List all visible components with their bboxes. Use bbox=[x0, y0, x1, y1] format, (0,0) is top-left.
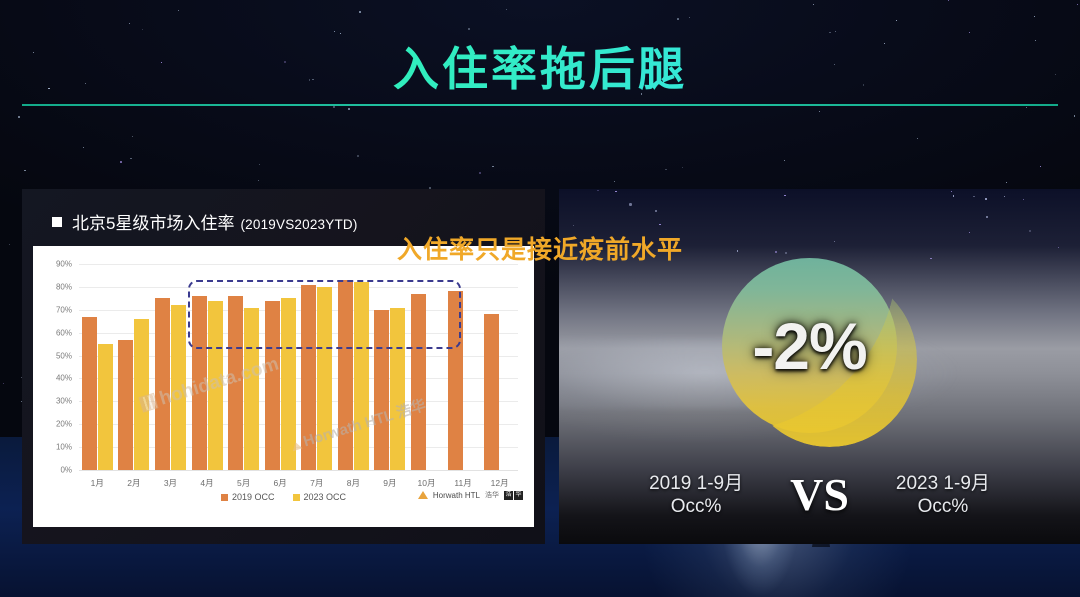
star bbox=[1004, 196, 1005, 197]
vs-mark: VS bbox=[790, 472, 849, 518]
partner-logo-char-1: 浩 bbox=[504, 491, 513, 500]
comparison-left-period: 2019 1-9月 bbox=[616, 472, 776, 495]
chart-y-tick-label: 0% bbox=[60, 466, 72, 475]
star bbox=[835, 31, 836, 32]
chart-y-tick-label: 70% bbox=[56, 305, 72, 314]
star bbox=[357, 155, 359, 157]
chart-legend-swatch bbox=[221, 494, 228, 501]
chart-x-tick-label: 11月 bbox=[454, 477, 471, 489]
star bbox=[784, 195, 786, 197]
chart-bar bbox=[82, 317, 97, 470]
title-divider bbox=[22, 104, 1058, 106]
page-title: 入住率拖后腿 bbox=[0, 33, 1080, 99]
chart-x-tick-label: 12月 bbox=[491, 477, 509, 489]
chart-x-axis-line bbox=[79, 470, 518, 471]
comparison-left-metric: Occ% bbox=[616, 495, 776, 518]
comparison-right: 2023 1-9月 Occ% bbox=[863, 472, 1023, 518]
summary-heading: 入住率只是接近疫前水平 bbox=[0, 230, 1080, 266]
chart-x-tick-label: 8月 bbox=[347, 477, 360, 489]
chart-y-tick-label: 60% bbox=[56, 328, 72, 337]
star bbox=[985, 198, 987, 200]
chart-y-tick-label: 30% bbox=[56, 397, 72, 406]
star bbox=[24, 170, 26, 172]
star bbox=[615, 191, 617, 193]
star bbox=[1026, 107, 1027, 108]
chart-y-tick-label: 50% bbox=[56, 351, 72, 360]
horwath-triangle-icon bbox=[418, 491, 428, 499]
star bbox=[951, 191, 952, 192]
chart-bar bbox=[171, 305, 186, 470]
star bbox=[506, 9, 507, 10]
chart-brand: Horwath HTL 浩华 浩 华 bbox=[418, 490, 523, 500]
star bbox=[468, 28, 470, 30]
chart-bar-group: 3月 bbox=[152, 264, 189, 470]
star bbox=[3, 383, 4, 384]
star bbox=[665, 169, 667, 171]
chart-legend-swatch bbox=[293, 494, 300, 501]
star bbox=[573, 225, 574, 226]
star bbox=[597, 190, 599, 192]
comparison-right-metric: Occ% bbox=[863, 495, 1023, 518]
chart-x-tick-label: 3月 bbox=[164, 477, 177, 489]
metric-value: -2% bbox=[722, 258, 897, 433]
star bbox=[130, 158, 132, 160]
comparison-left: 2019 1-9月 Occ% bbox=[616, 472, 776, 518]
chart-y-tick-label: 80% bbox=[56, 282, 72, 291]
star bbox=[132, 136, 133, 137]
chart-bar-group: 2月 bbox=[116, 264, 153, 470]
star bbox=[629, 203, 631, 205]
chart-bar-group: 1月 bbox=[79, 264, 116, 470]
star bbox=[986, 216, 988, 218]
chart-bar bbox=[155, 298, 170, 470]
partner-logo-char-2: 华 bbox=[514, 491, 523, 500]
star bbox=[83, 147, 84, 148]
brand-name: Horwath HTL bbox=[433, 491, 480, 500]
star bbox=[1023, 199, 1024, 200]
star bbox=[948, 0, 949, 1]
star bbox=[359, 11, 361, 13]
chart-y-tick-label: 10% bbox=[56, 443, 72, 452]
star bbox=[917, 138, 918, 139]
chart-y-tick-label: 40% bbox=[56, 374, 72, 383]
chart-x-tick-label: 1月 bbox=[91, 477, 104, 489]
comparison-row: 2019 1-9月 Occ% VS 2023 1-9月 Occ% bbox=[559, 466, 1080, 524]
star bbox=[334, 31, 335, 32]
star bbox=[348, 108, 350, 110]
slide-root: 入住率拖后腿 北京5星级市场入住率(2019VS2023YTD) 90%80%7… bbox=[0, 0, 1080, 597]
chart-bar bbox=[484, 314, 499, 470]
star bbox=[819, 111, 820, 112]
star bbox=[614, 181, 615, 182]
chart-legend-label: 2023 OCC bbox=[304, 492, 347, 502]
chart-plot-area: 90%80%70%60%50%40%30%20%10%0% 1月2月3月4月5月… bbox=[79, 264, 518, 470]
chart-legend-item: 2019 OCC bbox=[221, 492, 275, 502]
brand-name-cn: 浩华 bbox=[485, 490, 499, 500]
chart-card: 90%80%70%60%50%40%30%20%10%0% 1月2月3月4月5月… bbox=[33, 246, 534, 527]
chart-x-tick-label: 2月 bbox=[127, 477, 140, 489]
chart-y-tick-label: 20% bbox=[56, 420, 72, 429]
chart-legend-item: 2023 OCC bbox=[293, 492, 347, 502]
star bbox=[973, 196, 974, 197]
star bbox=[1040, 166, 1041, 167]
chart-x-tick-label: 5月 bbox=[237, 477, 250, 489]
chart-x-tick-label: 9月 bbox=[383, 477, 396, 489]
star bbox=[333, 106, 334, 107]
star bbox=[479, 172, 481, 174]
chart-bar-group: 12月 bbox=[481, 264, 518, 470]
star bbox=[178, 10, 179, 11]
chart-x-tick-label: 10月 bbox=[418, 477, 436, 489]
star bbox=[120, 161, 122, 163]
comparison-right-period: 2023 1-9月 bbox=[863, 472, 1023, 495]
star bbox=[677, 18, 679, 20]
chart-x-tick-label: 7月 bbox=[310, 477, 323, 489]
star bbox=[655, 210, 657, 212]
star bbox=[896, 20, 897, 21]
partner-logo-icon: 浩 华 bbox=[504, 491, 523, 500]
bullet-square-icon bbox=[52, 217, 62, 227]
chart-bar bbox=[118, 340, 133, 470]
chart-highlight-box bbox=[188, 280, 461, 349]
star bbox=[129, 23, 130, 24]
chart-bar bbox=[98, 344, 113, 470]
star bbox=[659, 224, 661, 226]
chart-legend-label: 2019 OCC bbox=[232, 492, 275, 502]
chart-bar bbox=[134, 319, 149, 470]
chart-x-tick-label: 6月 bbox=[274, 477, 287, 489]
star bbox=[784, 160, 785, 161]
star bbox=[953, 195, 954, 196]
chart-x-tick-label: 4月 bbox=[200, 477, 213, 489]
